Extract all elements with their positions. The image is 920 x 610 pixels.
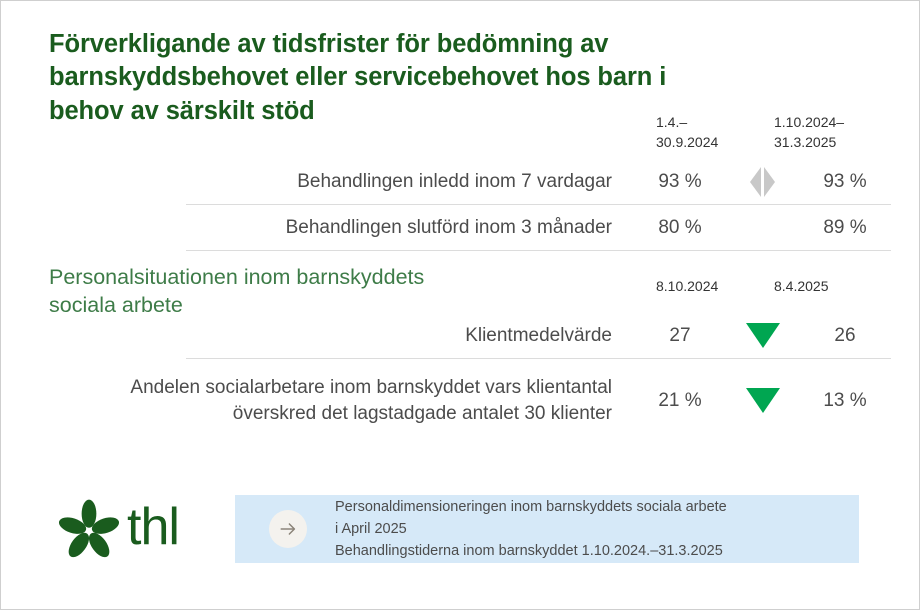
header-spacer [49, 113, 634, 159]
column-header-period-1: 1.4.– 30.9.2024 [656, 113, 774, 159]
row-label: Andelen socialarbetare inom barnskyddet … [49, 375, 612, 426]
row-label-cell: Behandlingen slutförd inom 3 månader [49, 205, 634, 250]
table-row: Klientmedelvärde 27 26 [49, 313, 891, 358]
row-label: Behandlingen inledd inom 7 vardagar [297, 169, 612, 194]
row-value-period-1: 80 % [634, 205, 726, 250]
section-title-personnel: Personalsituationen inom barnskyddets so… [49, 263, 469, 320]
header-periods: 1.4.– 30.9.2024 1.10.2024– 31.3.2025 [634, 113, 913, 159]
thl-wordmark: thl [127, 501, 179, 553]
row-label-cell: Klientmedelvärde [49, 313, 634, 358]
row-value-date-1: 27 [634, 313, 726, 358]
footer-links-box[interactable]: Personaldimensioneringen inom barnskydde… [235, 495, 859, 563]
triangle-down-icon [746, 323, 780, 348]
row-value-period-1: 93 % [634, 159, 726, 204]
table-row: Behandlingen slutförd inom 3 månader 80 … [49, 205, 891, 250]
column-header-date-2: 8.4.2025 [774, 277, 913, 313]
triangle-down-icon [746, 388, 780, 413]
arrow-right-icon[interactable] [269, 510, 307, 548]
row-label: Behandlingen slutförd inom 3 månader [286, 215, 612, 240]
header-dates: 8.10.2024 8.4.2025 [634, 277, 913, 313]
row-value-date-1: 21 % [634, 359, 726, 442]
trend-indicator-cell [726, 313, 799, 358]
diamond-flat-icon [750, 167, 775, 197]
trend-indicator-cell [726, 205, 799, 250]
column-header-date-1: 8.10.2024 [656, 277, 774, 313]
row-value-period-2: 89 % [799, 205, 891, 250]
row-label-cell: Andelen socialarbetare inom barnskyddet … [49, 359, 634, 442]
row-value-date-2: 26 [799, 313, 891, 358]
trend-indicator-cell [726, 359, 799, 442]
table-row: Behandlingen inledd inom 7 vardagar 93 %… [49, 159, 891, 204]
row-value-date-2: 13 % [799, 359, 891, 442]
row-label-cell: Behandlingen inledd inom 7 vardagar [49, 159, 634, 204]
infographic-page: Förverkligande av tidsfrister för bedömn… [0, 0, 920, 610]
trend-indicator-cell [726, 159, 799, 204]
flat-left-half-icon [750, 167, 761, 197]
flat-right-half-icon [764, 167, 775, 197]
footer-links-text[interactable]: Personaldimensioneringen inom barnskydde… [335, 496, 727, 562]
row-label: Klientmedelvärde [465, 323, 612, 348]
table-header-row-period: 1.4.– 30.9.2024 1.10.2024– 31.3.2025 [49, 113, 891, 159]
table-row: Andelen socialarbetare inom barnskyddet … [49, 359, 891, 442]
column-header-period-2: 1.10.2024– 31.3.2025 [774, 113, 913, 159]
row-value-period-2: 93 % [799, 159, 891, 204]
